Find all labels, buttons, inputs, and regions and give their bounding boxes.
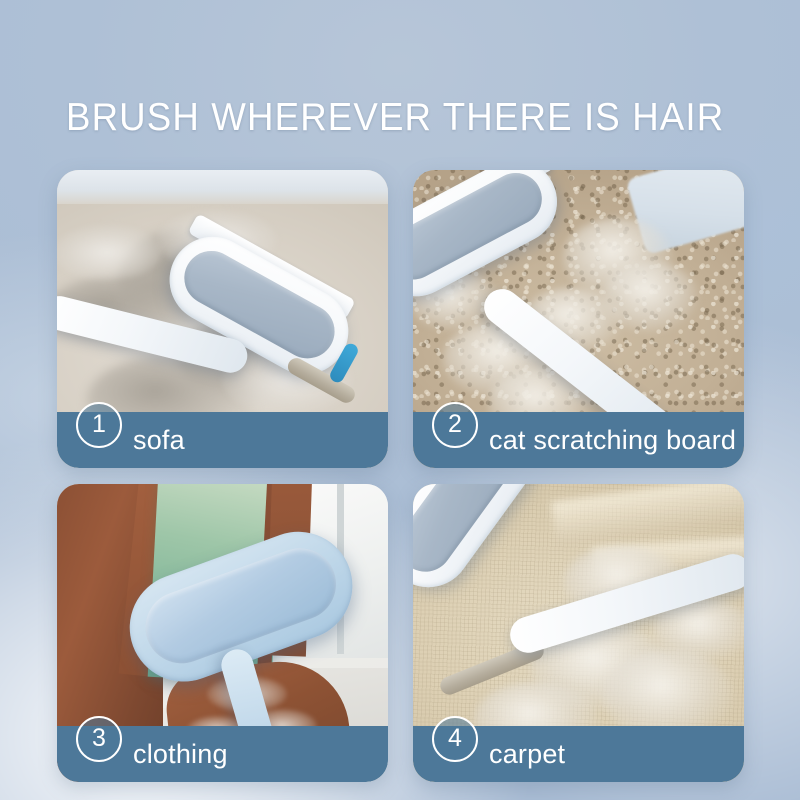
use-case-card-clothing[interactable]: clothing 3 (57, 484, 388, 782)
use-case-card-cat-scratching-board[interactable]: cat scratching board 2 (413, 170, 744, 468)
caption-label: clothing (133, 739, 228, 770)
use-case-card-carpet[interactable]: carpet 4 (413, 484, 744, 782)
brush-head (413, 170, 572, 311)
step-badge: 3 (76, 716, 122, 762)
use-case-grid: sofa 1 (57, 170, 744, 782)
use-case-card-sofa[interactable]: sofa 1 (57, 170, 388, 468)
brush-pad (413, 484, 533, 582)
brush-pad (413, 170, 551, 289)
caption-label: carpet (489, 739, 565, 770)
step-badge: 2 (432, 402, 478, 448)
brush-head (413, 484, 555, 604)
promo-poster: BRUSH WHEREVER THERE IS HAIR (0, 0, 800, 800)
page-title: BRUSH WHEREVER THERE IS HAIR (66, 96, 724, 140)
step-badge: 4 (432, 716, 478, 762)
caption-label: cat scratching board (489, 425, 736, 456)
caption-label: sofa (133, 425, 185, 456)
step-badge: 1 (76, 402, 122, 448)
brush-handle (506, 550, 744, 658)
